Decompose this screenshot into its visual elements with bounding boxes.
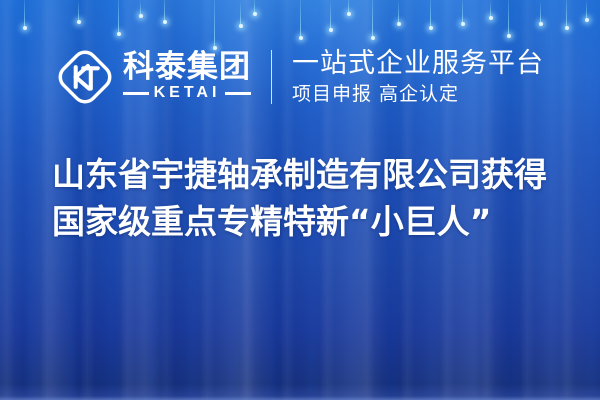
right-dash-icon [225, 92, 251, 95]
brand-name-en-row: KETAI [123, 84, 251, 102]
light-streak-icon [586, 0, 587, 20]
light-streak-icon [398, 0, 399, 24]
light-streak-icon [164, 0, 165, 22]
light-streak-icon [330, 0, 331, 30]
brand-name-en: KETAI [154, 84, 221, 102]
slogan-primary: 一站式企业服务平台 [292, 48, 544, 79]
light-streak-icon [78, 0, 79, 22]
brand-banner: 科泰集团 KETAI 一站式企业服务平台 项目申报 高企认定 [0, 38, 600, 116]
light-streak-icon [490, 0, 491, 18]
light-streak-icon [372, 0, 373, 38]
light-streak-icon [508, 0, 509, 36]
ketai-diamond-monogram-icon [56, 48, 114, 106]
light-streak-icon [118, 0, 119, 34]
slogan-secondary: 项目申报 高企认定 [292, 82, 544, 107]
vertical-divider-icon [271, 50, 272, 104]
light-streak-icon [348, 0, 349, 14]
light-streak-icon [24, 0, 25, 28]
light-streak-icon [254, 0, 255, 14]
promotional-poster: 科泰集团 KETAI 一站式企业服务平台 项目申报 高企认定 山东省宇捷轴承制造… [0, 0, 600, 400]
light-streak-icon [566, 0, 567, 28]
page-title: 山东省宇捷轴承制造有限公司获得国家级重点专精特新“小巨人” [52, 152, 566, 246]
bottom-edge-highlight [0, 396, 600, 400]
left-dash-icon [123, 92, 149, 95]
light-streak-icon [462, 0, 463, 24]
slogan-block: 一站式企业服务平台 项目申报 高企认定 [292, 48, 544, 107]
brand-logo-wordmark: 科泰集团 KETAI [123, 52, 251, 103]
light-streak-icon [540, 0, 541, 24]
light-streak-icon [430, 0, 431, 28]
light-streak-icon [240, 0, 241, 26]
brand-logo: 科泰集团 KETAI [56, 48, 251, 106]
brand-name-cn: 科泰集团 [123, 52, 251, 84]
light-streak-icon [140, 0, 141, 16]
light-streak-icon [300, 0, 301, 38]
